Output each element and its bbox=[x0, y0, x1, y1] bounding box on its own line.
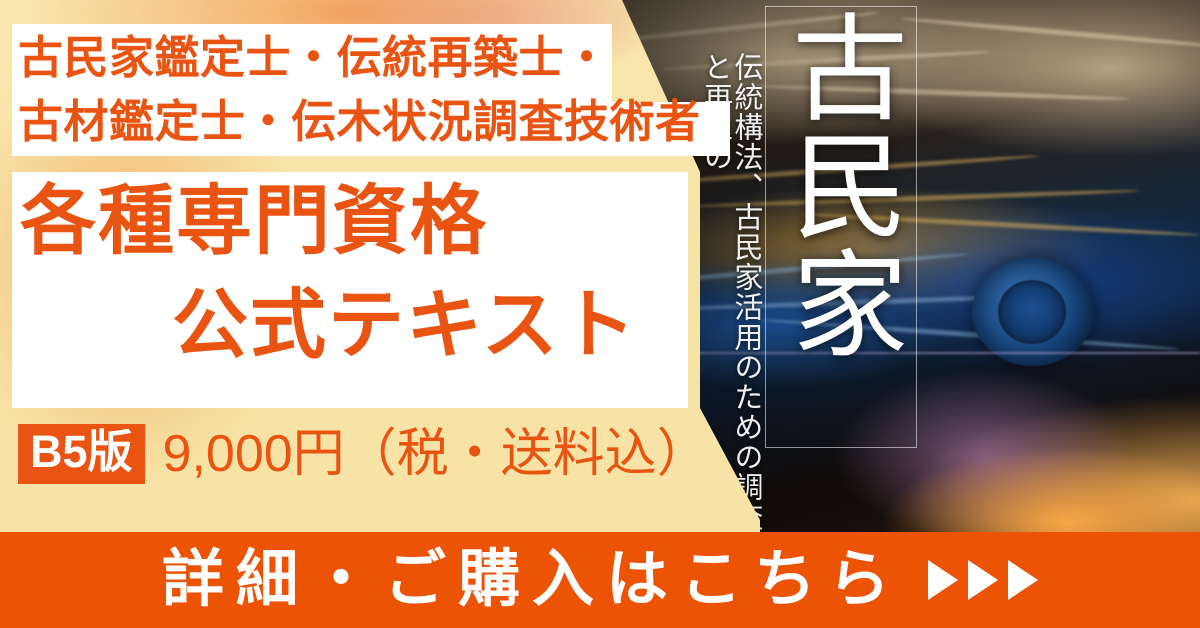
play-arrow-icon bbox=[928, 560, 958, 600]
promo-banner: 古民家 伝統構法、古民家活用のための調査と再生の 古民家鑑定士・伝統再築士・ 古… bbox=[0, 0, 1200, 628]
format-badge: B5版 bbox=[18, 424, 145, 484]
arrow-group bbox=[928, 560, 1038, 600]
title-line-2: 公式テキスト bbox=[172, 288, 638, 364]
price-text: 9,000円（税・送料込） bbox=[163, 428, 709, 480]
book-cover-title: 古民家 bbox=[775, 8, 907, 362]
play-arrow-icon bbox=[968, 560, 998, 600]
price-row: B5版 9,000円（税・送料込） bbox=[18, 424, 709, 484]
qualifications-headline: 古民家鑑定士・伝統再築士・ 古材鑑定士・伝木状況調査技術者 bbox=[18, 26, 718, 154]
play-arrow-icon bbox=[1008, 560, 1038, 600]
cta-bar[interactable]: 詳細・ご購入はこちら bbox=[0, 532, 1200, 628]
cta-label: 詳細・ご購入はこちら bbox=[162, 549, 902, 611]
title-line-1: 各種専門資格 bbox=[20, 184, 488, 260]
